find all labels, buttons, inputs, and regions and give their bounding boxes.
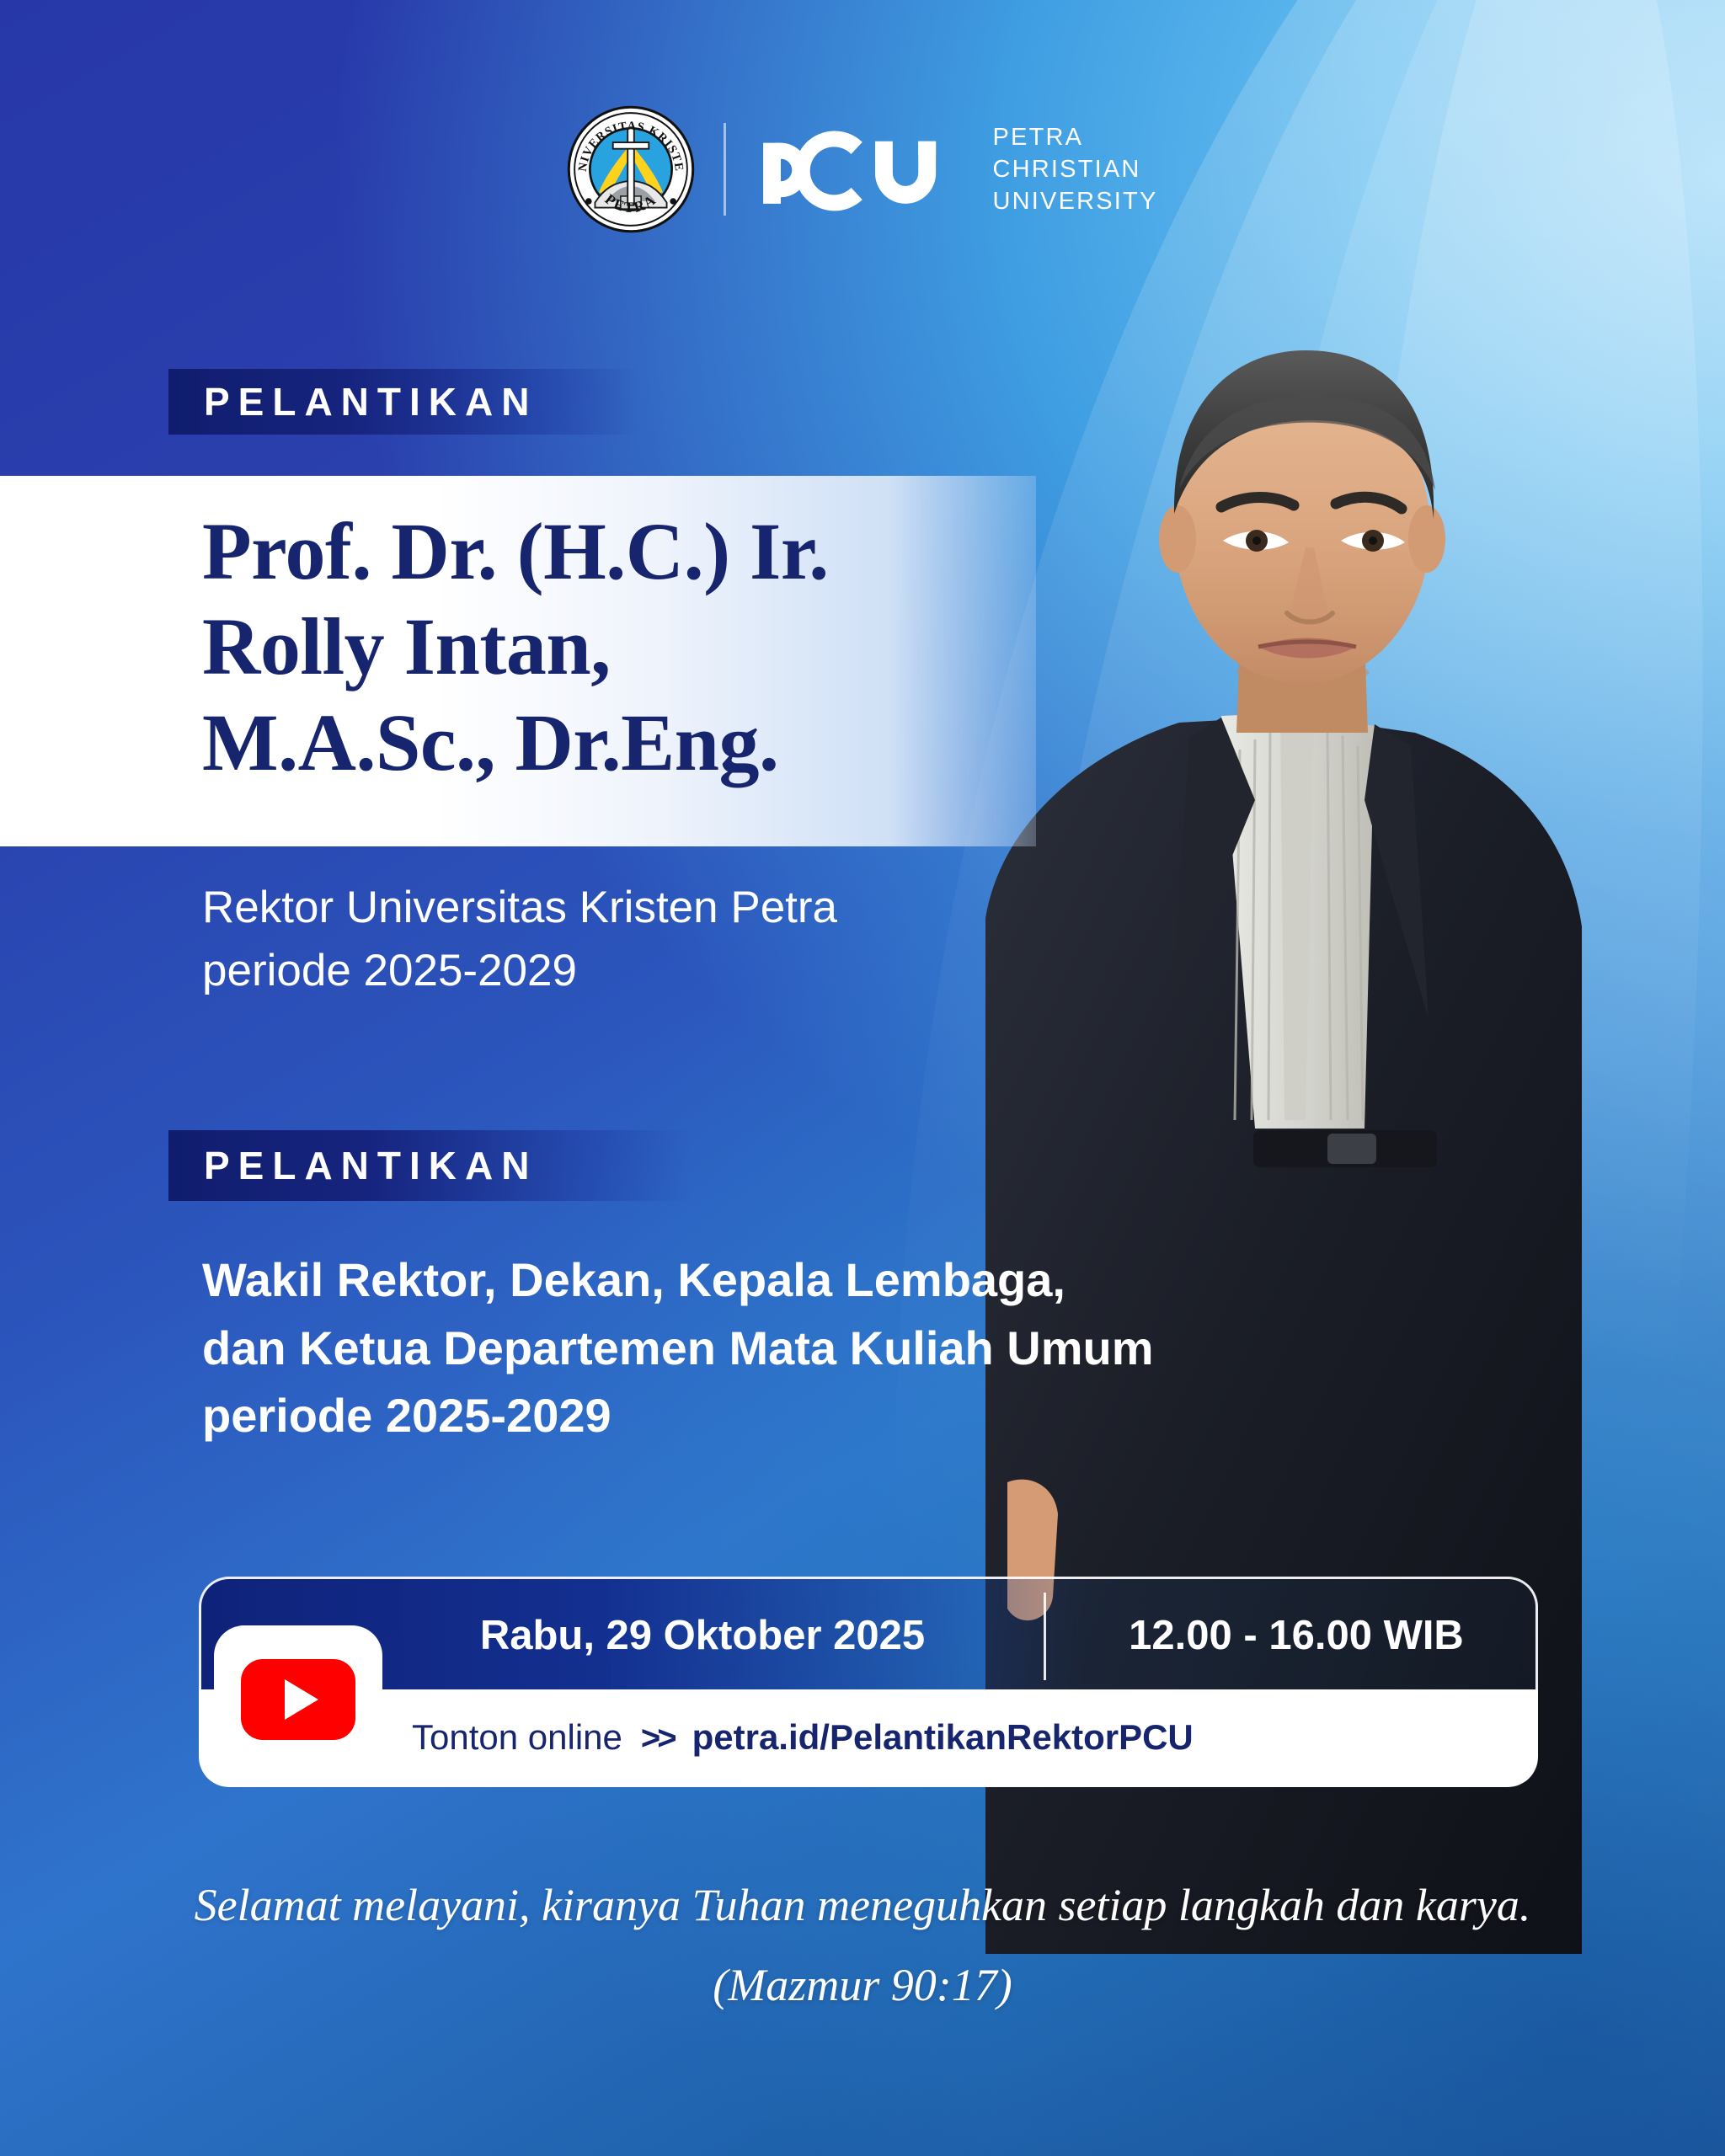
name-line-2: Rolly Intan, <box>202 599 1028 694</box>
event-time: 12.00 - 16.00 WIB <box>1069 1612 1524 1659</box>
pcu-logo-icon <box>755 122 964 216</box>
watch-online-link[interactable]: Tonton online >> petra.id/PelantikanRekt… <box>412 1717 1194 1758</box>
quote-text: Selamat melayani, kiranya Tuhan meneguhk… <box>195 1880 1531 1930</box>
university-seal-icon: UNIVERSITAS KRISTEN PETRA <box>567 105 695 233</box>
roles-list: Wakil Rektor, Dekan, Kepala Lembaga, dan… <box>202 1246 1381 1450</box>
name-line-1: Prof. Dr. (H.C.) Ir. <box>202 504 1028 599</box>
role-line-3: periode 2025-2029 <box>202 1382 1381 1450</box>
arrow-right-icon: >> <box>641 1720 674 1758</box>
role-line-2: dan Ketua Departemen Mata Kuliah Umum <box>202 1315 1381 1383</box>
closing-quote: Selamat melayani, kiranya Tuhan meneguhk… <box>0 1871 1725 2020</box>
watch-label: Tonton online <box>412 1717 622 1758</box>
quote-reference: (Mazmur 90:17) <box>0 1951 1725 2020</box>
header-logo-row: UNIVERSITAS KRISTEN PETRA PETRA <box>0 105 1725 233</box>
rector-position: Rektor Universitas Kristen Petra periode… <box>202 876 1044 1003</box>
badge-pelantikan-1: PELANTIKAN <box>168 369 640 435</box>
youtube-badge[interactable] <box>214 1625 382 1774</box>
play-triangle-icon <box>285 1679 318 1720</box>
subtitle-line-1: Rektor Universitas Kristen Petra <box>202 876 1044 939</box>
rector-name: Prof. Dr. (H.C.) Ir. Rolly Intan, M.A.Sc… <box>202 504 1028 790</box>
role-line-1: Wakil Rektor, Dekan, Kepala Lembaga, <box>202 1246 1381 1315</box>
name-line-3: M.A.Sc., Dr.Eng. <box>202 695 1028 790</box>
brand-line-2: CHRISTIAN <box>992 153 1157 185</box>
badge-pelantikan-2: PELANTIKAN <box>168 1130 691 1201</box>
brand-line-3: UNIVERSITY <box>992 185 1157 217</box>
subtitle-line-2: periode 2025-2029 <box>202 939 1044 1002</box>
brand-line-1: PETRA <box>992 121 1157 153</box>
pcu-wordmark: PETRA CHRISTIAN UNIVERSITY <box>992 121 1157 218</box>
watch-online-row: Tonton online >> petra.id/PelantikanRekt… <box>199 1689 1538 1787</box>
event-datetime-row: Rabu, 29 Oktober 2025 12.00 - 16.00 WIB <box>199 1577 1538 1691</box>
youtube-icon <box>241 1659 355 1740</box>
event-date: Rabu, 29 Oktober 2025 <box>412 1612 993 1659</box>
logo-divider <box>724 123 726 216</box>
stream-url[interactable]: petra.id/PelantikanRektorPCU <box>692 1717 1194 1758</box>
datetime-divider <box>1044 1593 1046 1680</box>
poster-canvas: UNIVERSITAS KRISTEN PETRA PETRA <box>0 0 1725 2156</box>
event-info-card: Rabu, 29 Oktober 2025 12.00 - 16.00 WIB … <box>199 1577 1538 1787</box>
